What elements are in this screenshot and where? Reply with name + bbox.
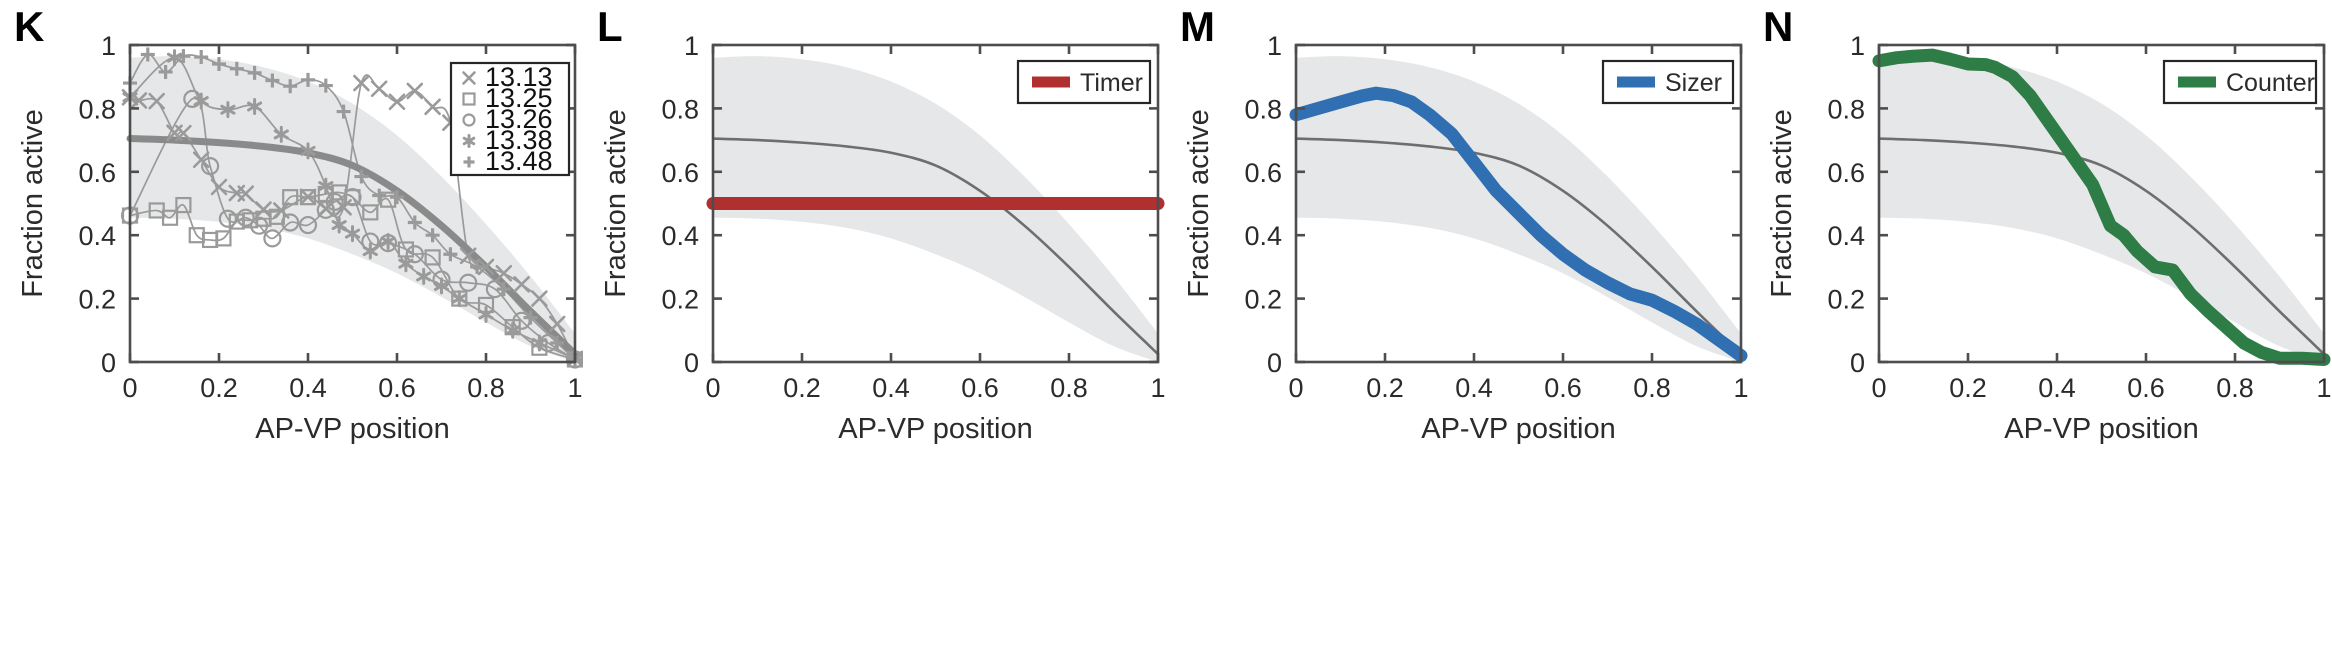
y-tick-label: 0.4 <box>1827 221 1865 251</box>
y-tick-label: 0.8 <box>1244 94 1282 124</box>
y-tick-label: 1 <box>101 31 116 61</box>
y-tick-label: 0.6 <box>1827 158 1865 188</box>
panel-m: M 00.20.40.60.8100.20.40.60.81AP-VP posi… <box>1166 0 1749 650</box>
y-tick-label: 0 <box>1850 348 1865 378</box>
x-tick-label: 0 <box>122 373 137 403</box>
svg-l-legend: Timer <box>1018 61 1150 103</box>
y-tick-label: 0.6 <box>661 158 699 188</box>
y-tick-label: 1 <box>1850 31 1865 61</box>
svg-n-legend: Counter <box>2164 61 2316 103</box>
panel-k: K 00.20.40.60.8100.20.40.60.81AP-VP posi… <box>0 0 583 650</box>
x-tick-label: 0.6 <box>2127 373 2165 403</box>
y-tick-label: 0.8 <box>661 94 699 124</box>
y-tick-label: 0.6 <box>1244 158 1282 188</box>
x-tick-label: 0 <box>1288 373 1303 403</box>
x-marker <box>426 100 440 114</box>
x-tick-label: 1 <box>1733 373 1748 403</box>
x-tick-label: 1 <box>567 373 582 403</box>
y-tick-label: 1 <box>1267 31 1282 61</box>
y-axis-title: Fraction active <box>1766 109 1798 298</box>
y-tick-label: 0.2 <box>661 285 699 315</box>
svg-m-legend: Sizer <box>1603 61 1733 103</box>
panel-k-plot: 00.20.40.60.8100.20.40.60.81AP-VP positi… <box>0 0 583 650</box>
y-tick-label: 0 <box>1267 348 1282 378</box>
x-tick-label: 0.4 <box>1455 373 1493 403</box>
x-tick-label: 0.8 <box>1050 373 1088 403</box>
legend-label-counter: Counter <box>2226 69 2315 97</box>
x-tick-label: 0.8 <box>467 373 505 403</box>
y-tick-label: 0 <box>101 348 116 378</box>
x-tick-label: 0.4 <box>872 373 910 403</box>
x-tick-label: 0.8 <box>1633 373 1671 403</box>
y-tick-label: 0.2 <box>1244 285 1282 315</box>
y-axis-title: Fraction active <box>600 109 632 298</box>
x-tick-label: 0 <box>1871 373 1886 403</box>
x-marker <box>372 82 386 96</box>
y-tick-label: 0.2 <box>1827 285 1865 315</box>
x-tick-label: 1 <box>2316 373 2331 403</box>
x-tick-label: 0.2 <box>1949 373 1987 403</box>
x-tick-label: 0.2 <box>783 373 821 403</box>
figure-panel-row: K 00.20.40.60.8100.20.40.60.81AP-VP posi… <box>0 0 2332 650</box>
legend-label-timer: Timer <box>1080 69 1143 97</box>
x-tick-label: 0.4 <box>289 373 327 403</box>
y-tick-label: 0.4 <box>78 221 116 251</box>
x-tick-label: 0 <box>705 373 720 403</box>
panel-n-svg: 00.20.40.60.8100.20.40.60.81AP-VP positi… <box>1749 0 2332 650</box>
y-tick-label: 0 <box>684 348 699 378</box>
x-marker <box>408 84 422 98</box>
panel-m-svg: 00.20.40.60.8100.20.40.60.81AP-VP positi… <box>1166 0 1749 650</box>
x-tick-label: 0.4 <box>2038 373 2076 403</box>
y-tick-label: 0.2 <box>78 285 116 315</box>
x-tick-label: 0.2 <box>1366 373 1404 403</box>
panel-l-svg: 00.20.40.60.8100.20.40.60.81AP-VP positi… <box>583 0 1166 650</box>
panel-n-plot: 00.20.40.60.8100.20.40.60.81AP-VP positi… <box>1749 0 2332 650</box>
y-tick-label: 0.6 <box>78 158 116 188</box>
y-axis-title: Fraction active <box>17 109 49 298</box>
legend-label-sizer: Sizer <box>1665 69 1722 97</box>
y-tick-label: 1 <box>684 31 699 61</box>
panel-k-legend: 13.1313.2513.2613.3813.48 <box>451 62 569 176</box>
x-tick-label: 1 <box>1150 373 1165 403</box>
x-tick-label: 0.2 <box>200 373 238 403</box>
y-axis-title: Fraction active <box>1183 109 1215 298</box>
x-marker <box>354 76 368 90</box>
legend-label-13.48: 13.48 <box>485 146 553 176</box>
x-axis-title: AP-VP position <box>1421 413 1616 445</box>
x-tick-label: 0.6 <box>1544 373 1582 403</box>
panel-n: N 00.20.40.60.8100.20.40.60.81AP-VP posi… <box>1749 0 2332 650</box>
panel-l: L 00.20.40.60.8100.20.40.60.81AP-VP posi… <box>583 0 1166 650</box>
y-tick-label: 0.8 <box>78 94 116 124</box>
panel-m-plot: 00.20.40.60.8100.20.40.60.81AP-VP positi… <box>1166 0 1749 650</box>
x-tick-label: 0.8 <box>2216 373 2254 403</box>
panel-l-plot: 00.20.40.60.8100.20.40.60.81AP-VP positi… <box>583 0 1166 650</box>
y-tick-label: 0.4 <box>661 221 699 251</box>
x-tick-label: 0.6 <box>961 373 999 403</box>
x-axis-title: AP-VP position <box>255 413 450 445</box>
y-tick-label: 0.8 <box>1827 94 1865 124</box>
x-axis-title: AP-VP position <box>2004 413 2199 445</box>
x-tick-label: 0.6 <box>378 373 416 403</box>
panel-k-svg: 00.20.40.60.8100.20.40.60.81AP-VP positi… <box>0 0 583 650</box>
x-marker <box>390 95 404 109</box>
y-tick-label: 0.4 <box>1244 221 1282 251</box>
x-axis-title: AP-VP position <box>838 413 1033 445</box>
